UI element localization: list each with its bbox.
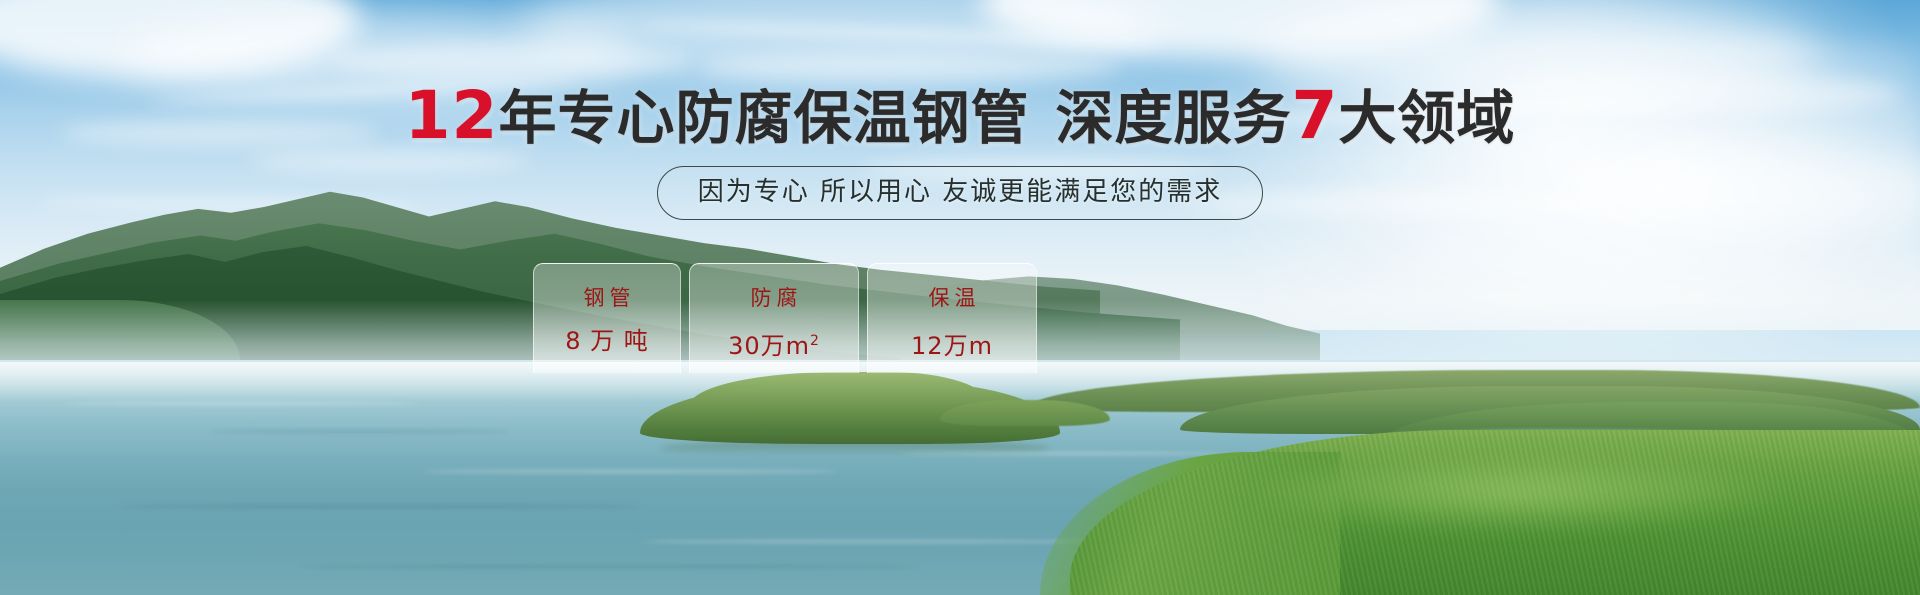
water-ripple [420, 470, 840, 473]
water-ripple [300, 565, 920, 568]
stat-cards: 钢管 8 万 吨 防腐 30万m2 保温 12万m [533, 263, 1037, 373]
hero-banner: 12年专心防腐保温钢管深度服务7大领域 因为专心 所以用心 友诚更能满足您的需求… [0, 0, 1920, 595]
stat-card-value: 30万m2 [728, 327, 820, 360]
stat-card-value: 12万m [911, 327, 993, 360]
subtitle-pill: 因为专心 所以用心 友诚更能满足您的需求 [657, 166, 1264, 220]
island-reflection [660, 440, 1050, 456]
stat-card-label: 钢管 [579, 286, 636, 310]
water-ripple [60, 402, 420, 405]
stat-card-steel-pipe[interactable]: 钢管 8 万 吨 [533, 263, 681, 373]
stat-card-label: 防腐 [746, 286, 803, 310]
water-ripple [210, 430, 510, 433]
headline-part-three: 大领域 [1338, 84, 1515, 152]
headline-part-two: 深度服务 [1055, 84, 1291, 152]
subtitle-container: 因为专心 所以用心 友诚更能满足您的需求 [0, 166, 1920, 220]
stat-card-anticorrosion[interactable]: 防腐 30万m2 [689, 263, 859, 373]
water-ripple [640, 540, 1100, 543]
stat-value-text: 12万m [911, 332, 993, 360]
stat-card-value: 8 万 吨 [565, 327, 649, 355]
stat-card-insulation[interactable]: 保温 12万m [867, 263, 1037, 373]
headline-years-number: 12 [405, 77, 499, 154]
cloud [700, 52, 1120, 82]
grass-highlight [1240, 452, 1800, 532]
stat-value-superscript: 2 [810, 333, 820, 349]
headline: 12年专心防腐保温钢管深度服务7大领域 [0, 84, 1920, 150]
stat-value-text: 8 万 吨 [565, 327, 649, 355]
water-ripple [120, 505, 640, 508]
grass-island-tail [940, 400, 1110, 426]
headline-fields-number: 7 [1291, 77, 1338, 154]
headline-part-one: 年专心防腐保温钢管 [498, 84, 1029, 152]
stat-card-label: 保温 [924, 286, 981, 310]
stat-value-text: 30万m [728, 332, 810, 360]
